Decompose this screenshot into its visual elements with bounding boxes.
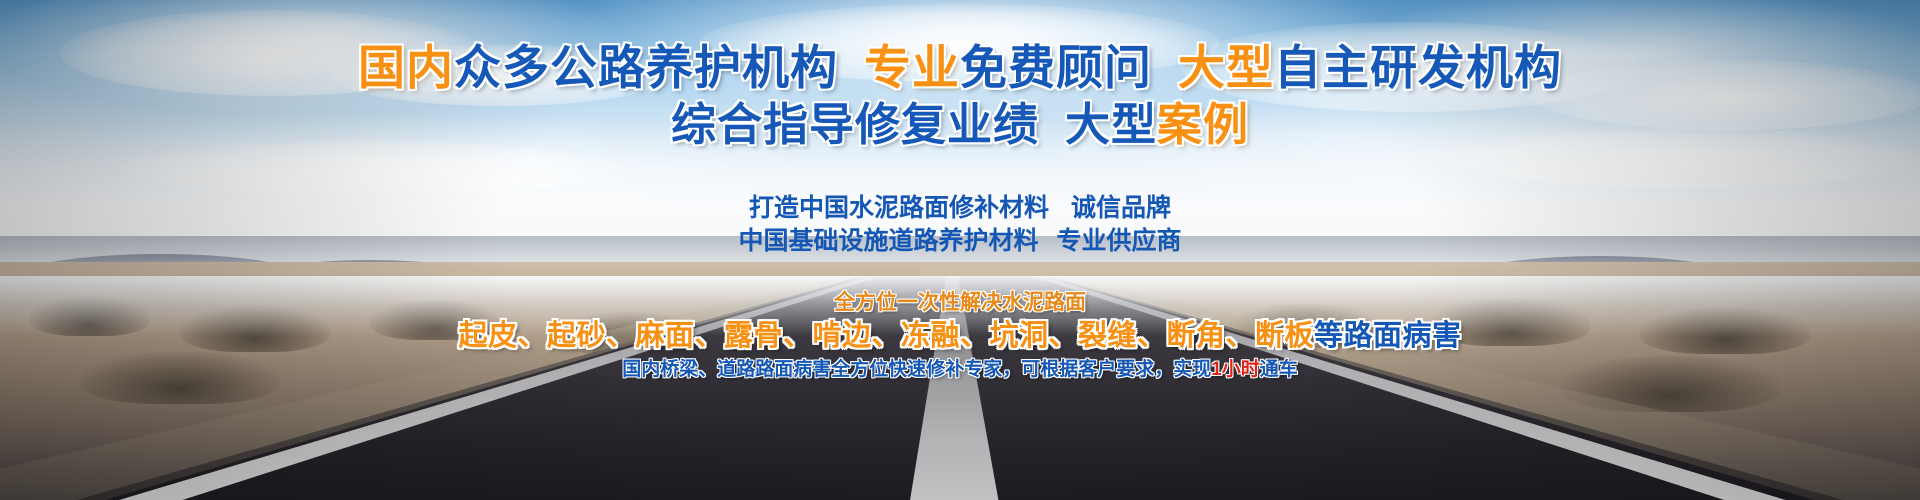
headline: 国内众多公路养护机构专业免费顾问大型自主研发机构 综合指导修复业绩大型案例 bbox=[0, 44, 1920, 147]
headline-seg-daxing-2: 大型 bbox=[1065, 99, 1157, 150]
features-line-2: 起皮、起砂、麻面、露骨、啃边、冻融、坑洞、裂缝、断角、断板等路面病害 bbox=[0, 319, 1920, 354]
headline-seg-zonghe: 综合指导修复业绩 bbox=[671, 99, 1039, 150]
one-hour-highlight: 1小时 bbox=[1211, 359, 1260, 380]
headline-seg-daxing: 大型 bbox=[1178, 41, 1274, 94]
subheading-line-1-main: 打造中国水泥路面修补材料 bbox=[749, 194, 1049, 222]
features-line-3-suffix: 通车 bbox=[1260, 359, 1298, 380]
subheading-block: 打造中国水泥路面修补材料诚信品牌 中国基础设施道路养护材料专业供应商 bbox=[0, 192, 1920, 259]
defect-list-suffix: 等路面病害 bbox=[1314, 320, 1462, 352]
defect-list: 起皮、起砂、麻面、露骨、啃边、冻融、坑洞、裂缝、断角、断板 bbox=[458, 320, 1314, 352]
subheading-line-1: 打造中国水泥路面修补材料诚信品牌 bbox=[0, 192, 1920, 225]
headline-seg-guonei: 国内 bbox=[358, 41, 454, 94]
features-line-3: 国内桥梁、道路路面病害全方位快速修补专家，可根据客户要求，实现1小时通车 bbox=[0, 358, 1920, 382]
features-block: 全方位一次性解决水泥路面 起皮、起砂、麻面、露骨、啃边、冻融、坑洞、裂缝、断角、… bbox=[0, 290, 1920, 382]
headline-seg-zizhu: 自主研发机构 bbox=[1274, 41, 1562, 94]
features-line-3-prefix: 国内桥梁、道路路面病害全方位快速修补专家，可根据客户要求，实现 bbox=[622, 359, 1211, 380]
headline-seg-mianfei: 免费顾问 bbox=[960, 41, 1152, 94]
subheading-line-2-main: 中国基础设施道路养护材料 bbox=[738, 227, 1038, 255]
headline-seg-zhuanye: 专业 bbox=[864, 41, 960, 94]
headline-seg-zhongduo: 众多公路养护机构 bbox=[454, 41, 838, 94]
headline-line-1: 国内众多公路养护机构专业免费顾问大型自主研发机构 bbox=[0, 44, 1920, 91]
subheading-line-2-tag: 专业供应商 bbox=[1057, 227, 1182, 255]
features-line-1: 全方位一次性解决水泥路面 bbox=[0, 290, 1920, 316]
banner-content: 国内众多公路养护机构专业免费顾问大型自主研发机构 综合指导修复业绩大型案例 打造… bbox=[0, 0, 1920, 500]
promotional-banner: 国内众多公路养护机构专业免费顾问大型自主研发机构 综合指导修复业绩大型案例 打造… bbox=[0, 0, 1920, 500]
headline-seg-anli: 案例 bbox=[1157, 99, 1249, 150]
headline-line-2: 综合指导修复业绩大型案例 bbox=[0, 102, 1920, 147]
subheading-line-2: 中国基础设施道路养护材料专业供应商 bbox=[0, 225, 1920, 258]
subheading-line-1-tag: 诚信品牌 bbox=[1071, 194, 1171, 222]
